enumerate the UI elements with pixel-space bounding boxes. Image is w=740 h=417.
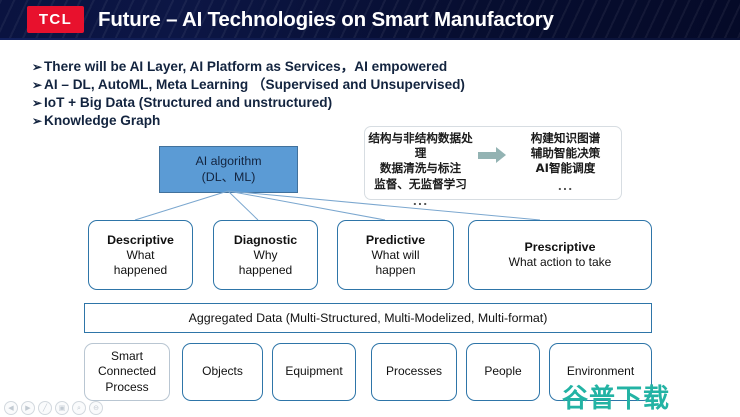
analytics-box-diagnostic: Diagnostic Why happened (213, 220, 318, 290)
aggregated-data-label: Aggregated Data (Multi-Structured, Multi… (189, 311, 548, 325)
slide-header: TCL Future – AI Technologies on Smart Ma… (0, 0, 740, 40)
watermark: 谷普下载 (562, 378, 670, 415)
chinese-note-right-line1: 构建知识图谱 (510, 131, 621, 146)
slide-menu-icon[interactable]: ▣ (55, 401, 69, 415)
aggregated-data-bar: Aggregated Data (Multi-Structured, Multi… (84, 303, 652, 333)
analytics-box-predictive: Predictive What will happen (337, 220, 454, 290)
tcl-logo-text: TCL (39, 11, 72, 28)
analytics-desc-line1: What (126, 248, 154, 263)
source-box-smart-connected-process: Smart Connected Process (84, 343, 170, 401)
source-line1: People (484, 364, 521, 379)
analytics-box-prescriptive: Prescriptive What action to take (468, 220, 652, 290)
analytics-title: Diagnostic (234, 232, 297, 248)
slide-canvas: TCL Future – AI Technologies on Smart Ma… (0, 0, 740, 417)
chinese-note-right-ellipsis: ... (510, 179, 621, 194)
source-line1: Equipment (285, 364, 342, 379)
analytics-desc-line2: happened (114, 263, 167, 278)
chinese-note-right-line2: 辅助智能决策 (510, 146, 621, 161)
source-box-objects: Objects (182, 343, 263, 401)
analytics-title: Predictive (366, 232, 425, 248)
analytics-desc-line1: Why (254, 248, 278, 263)
chinese-annotation-box: 结构与非结构数据处理 数据清洗与标注 监督、无监督学习 ... 构建知识图谱 辅… (364, 126, 622, 200)
next-slide-icon[interactable]: ▶ (21, 401, 35, 415)
page-title: Future – AI Technologies on Smart Manufa… (98, 8, 554, 32)
chinese-note-left-line2: 数据清洗与标注 (365, 161, 476, 176)
bullet-marker-icon: ➢ (32, 59, 44, 75)
ai-algorithm-box: AI algorithm (DL、ML) (159, 146, 298, 193)
bullet-marker-icon: ➢ (32, 77, 44, 93)
analytics-desc-line1: What action to take (509, 255, 612, 270)
presentation-controls[interactable]: ◀ ▶ ╱ ▣ ⌕ ⊖ (4, 401, 103, 415)
chinese-note-left-ellipsis: ... (365, 194, 476, 209)
bullet-marker-icon: ➢ (32, 113, 44, 129)
chinese-note-left-line3: 监督、无监督学习 (365, 177, 476, 192)
list-item-text: AI – DL, AutoML, Meta Learning （Supervis… (44, 77, 465, 93)
source-line3: Process (105, 380, 148, 395)
right-arrow-icon (476, 127, 510, 199)
source-line2: Connected (98, 364, 156, 379)
analytics-desc-line1: What will (371, 248, 419, 263)
list-item-text: There will be AI Layer, AI Platform as S… (44, 59, 447, 75)
list-item: ➢ There will be AI Layer, AI Platform as… (32, 59, 572, 75)
analytics-title: Prescriptive (525, 239, 596, 255)
source-box-processes: Processes (371, 343, 457, 401)
chinese-note-left-line1: 结构与非结构数据处理 (365, 131, 476, 161)
list-item: ➢ AI – DL, AutoML, Meta Learning （Superv… (32, 77, 572, 93)
pen-tool-icon[interactable]: ╱ (38, 401, 52, 415)
analytics-desc-line2: happened (239, 263, 292, 278)
tcl-logo: TCL (27, 6, 84, 33)
list-item-text: IoT + Big Data (Structured and unstructu… (44, 95, 332, 111)
source-box-equipment: Equipment (272, 343, 356, 401)
chinese-note-left: 结构与非结构数据处理 数据清洗与标注 监督、无监督学习 ... (365, 127, 476, 209)
ai-algorithm-subtitle: (DL、ML) (202, 170, 256, 186)
source-line1: Processes (386, 364, 442, 379)
analytics-title: Descriptive (107, 232, 174, 248)
zoom-out-icon[interactable]: ⊖ (89, 401, 103, 415)
list-item: ➢ IoT + Big Data (Structured and unstruc… (32, 95, 572, 111)
source-box-people: People (466, 343, 540, 401)
analytics-box-descriptive: Descriptive What happened (88, 220, 193, 290)
bullet-marker-icon: ➢ (32, 95, 44, 111)
chinese-note-right: 构建知识图谱 辅助智能决策 AI智能调度 ... (510, 127, 621, 194)
source-line1: Smart (111, 349, 143, 364)
bullet-list: ➢ There will be AI Layer, AI Platform as… (32, 59, 572, 131)
previous-slide-icon[interactable]: ◀ (4, 401, 18, 415)
chinese-note-right-line3: AI智能调度 (510, 161, 621, 176)
zoom-in-icon[interactable]: ⌕ (72, 401, 86, 415)
list-item-text: Knowledge Graph (44, 113, 160, 129)
source-line1: Objects (202, 364, 243, 379)
ai-algorithm-title: AI algorithm (195, 154, 261, 170)
analytics-desc-line2: happen (375, 263, 415, 278)
